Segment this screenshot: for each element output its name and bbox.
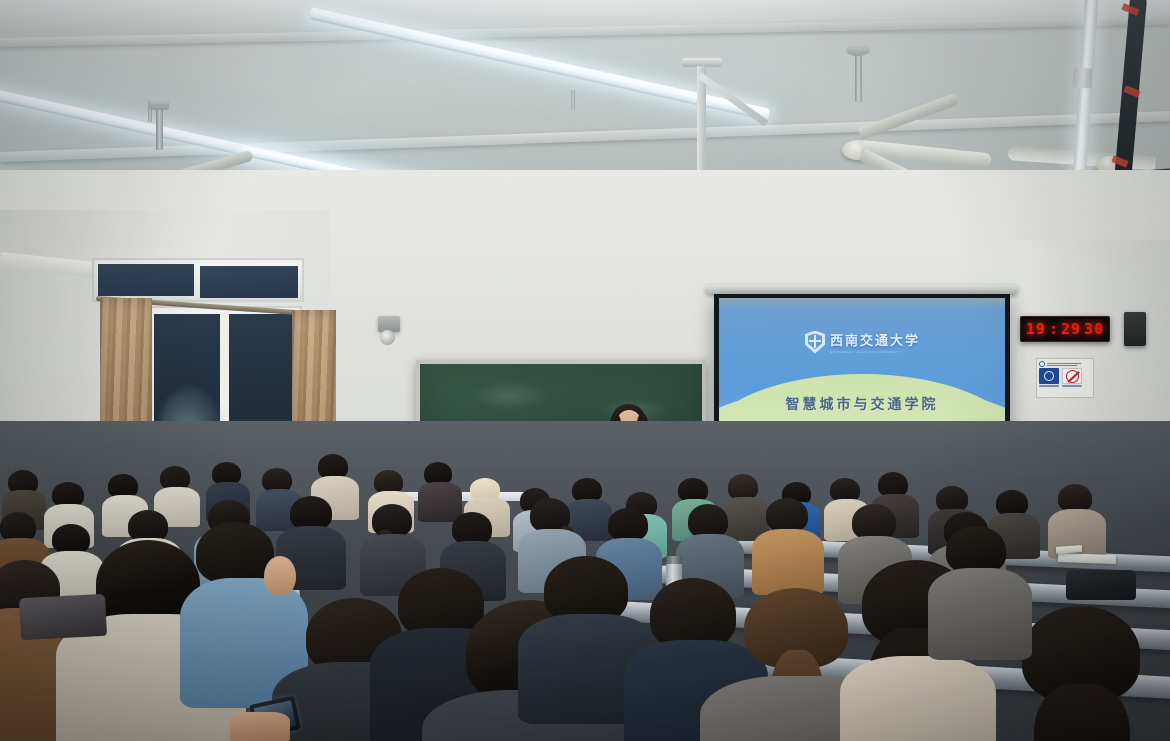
sign-header-text — [1047, 363, 1081, 366]
backpack-on-bench — [1066, 570, 1136, 600]
light-hanger-3 — [571, 90, 575, 110]
sign-icons-row — [1039, 368, 1091, 384]
shield-icon — [805, 331, 825, 354]
university-logo: 西南交通大学 SOUTHWEST JIAOTONG UNIVERSITY — [805, 330, 920, 354]
university-name-cn: 西南交通大学 — [830, 330, 920, 349]
vertical-tube-band-1 — [1072, 67, 1092, 88]
fan-mount-right — [846, 44, 870, 56]
digital-clock: 19 : 29 30 — [1020, 316, 1110, 342]
sign-caption-row — [1039, 385, 1091, 387]
fan-mount-left — [149, 98, 169, 110]
window-upper-pane-left — [98, 264, 194, 296]
sign-caption-2 — [1062, 385, 1082, 387]
university-name-en: SOUTHWEST JIAOTONG UNIVERSITY — [830, 350, 920, 354]
thermos-cap — [666, 556, 682, 564]
clock-separator: : — [1049, 322, 1058, 337]
no-smoking-slash — [1066, 370, 1079, 383]
sign-line-2 — [1047, 365, 1077, 366]
classroom-photo: 西南交通大学 SOUTHWEST JIAOTONG UNIVERSITY 智慧城… — [0, 0, 1170, 741]
sign-line-1 — [1047, 363, 1081, 364]
sign-emblem-icon — [1039, 361, 1045, 367]
window-upper-pane-right — [200, 266, 298, 298]
sign-header — [1039, 361, 1091, 367]
sign-caption-1 — [1039, 385, 1059, 387]
bag-left — [19, 594, 107, 640]
clock-hours: 19 — [1026, 322, 1046, 337]
fan-rod-right — [855, 50, 862, 102]
clock-minutes: 29 — [1061, 322, 1081, 337]
fan-rod-left — [156, 104, 163, 150]
wall-safety-sign — [1036, 358, 1094, 398]
clock-seconds: 30 — [1084, 322, 1104, 337]
wheelchair-icon — [1039, 368, 1059, 384]
shield-cross-horizontal — [809, 340, 821, 342]
wall-speaker-cone — [380, 330, 395, 345]
chalk-smudge-1 — [470, 382, 550, 410]
wall-speaker-right — [1124, 312, 1146, 346]
no-smoking-icon — [1062, 368, 1082, 384]
slide-title: 智慧城市与交通学院 — [719, 394, 1005, 414]
wheelchair-wheel — [1044, 371, 1054, 381]
projection-screen-roller — [706, 285, 1018, 294]
